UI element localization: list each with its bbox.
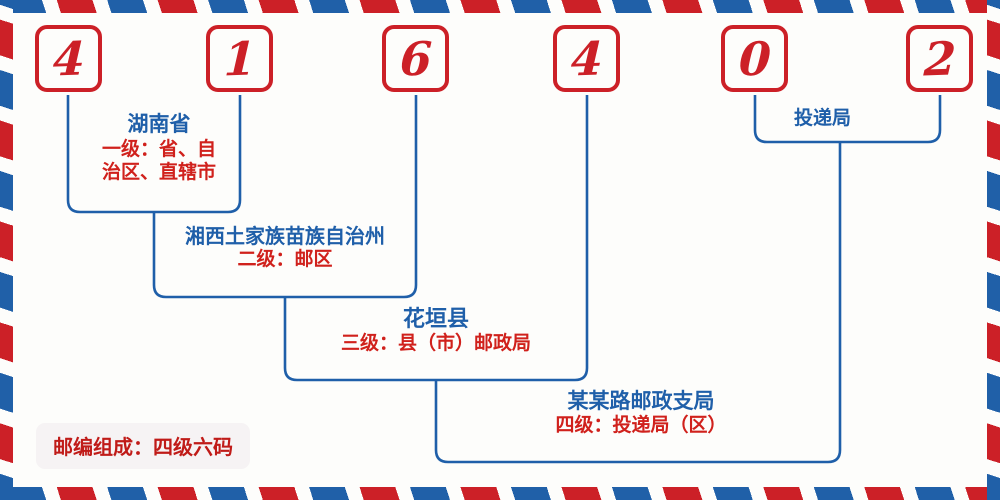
prefecture-sub: 二级：邮区 [160, 249, 410, 270]
county-title: 花垣县 [300, 307, 572, 332]
postcode-digit-box-2[interactable]: 1 [206, 25, 273, 92]
label-branch: 某某路邮政支局 四级：投递局（区） [505, 390, 777, 436]
delivery-title: 投递局 [760, 108, 885, 129]
postcode-digit-box-4[interactable]: 4 [553, 25, 620, 92]
digit-glyph: 1 [223, 35, 256, 82]
label-county: 花垣县 三级：县（市）邮政局 [300, 307, 572, 354]
province-sub-line2: 治区、直辖市 [75, 161, 243, 184]
postcode-digit-box-3[interactable]: 6 [382, 25, 449, 92]
label-province: 湖南省 一级：省、自 治区、直辖市 [75, 113, 243, 184]
province-title: 湖南省 [75, 113, 243, 137]
postcode-digit-box-1[interactable]: 4 [35, 25, 102, 92]
legend-text: 邮编组成：四级六码 [53, 437, 233, 459]
prefecture-title: 湘西土家族苗族自治州 [160, 226, 410, 248]
postcode-digit-box-5[interactable]: 0 [721, 25, 788, 92]
digit-glyph: 0 [738, 35, 771, 82]
label-prefecture: 湘西土家族苗族自治州 二级：邮区 [160, 226, 410, 271]
digit-glyph: 4 [570, 35, 603, 82]
branch-title: 某某路邮政支局 [505, 390, 777, 414]
postcode-diagram: 4 1 6 4 0 2 湖南省 一级：省、自 治区、直辖市 湘西土家族苗族自治州… [0, 0, 1000, 500]
legend-badge: 邮编组成：四级六码 [36, 423, 250, 469]
county-sub: 三级：县（市）邮政局 [300, 333, 572, 354]
digit-glyph: 6 [399, 35, 432, 82]
postcode-digit-box-6[interactable]: 2 [906, 25, 973, 92]
province-sub-line1: 一级：省、自 [75, 138, 243, 161]
digit-glyph: 4 [52, 35, 85, 82]
digit-glyph: 2 [923, 35, 956, 82]
branch-sub: 四级：投递局（区） [505, 415, 777, 436]
label-delivery-office: 投递局 [760, 108, 885, 129]
